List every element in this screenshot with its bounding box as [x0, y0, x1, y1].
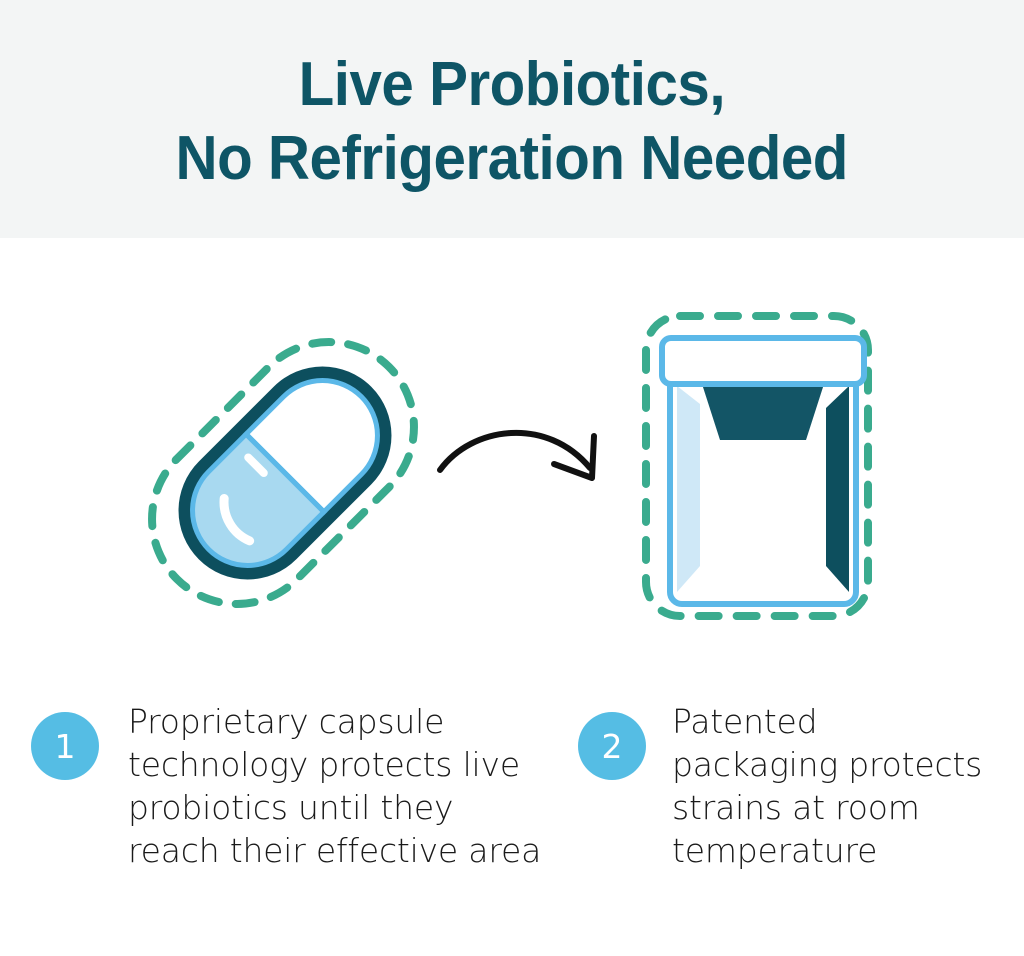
jar-left-shadow	[677, 386, 700, 592]
features-list: 1 Proprietary capsule technology protect…	[0, 700, 1024, 930]
arrow-illustration	[432, 408, 632, 503]
feature-text-1: Proprietary capsule technology protects …	[128, 700, 541, 872]
feature-badge-2: 2	[578, 712, 646, 780]
capsule-illustration	[120, 308, 460, 638]
arrow-curve	[440, 433, 590, 470]
feature-text-2: Patented packaging protects strains at r…	[672, 700, 982, 872]
page-title-line-2: No Refrigeration Needed	[176, 122, 848, 196]
feature-badge-1: 1	[31, 712, 99, 780]
feature-text-2-line-4: temperature	[672, 829, 982, 872]
jar-right-shadow	[826, 386, 849, 592]
feature-text-2-line-1: Patented	[672, 700, 982, 743]
jar-lid	[662, 338, 864, 384]
feature-text-1-line-1: Proprietary capsule	[128, 700, 541, 743]
feature-text-1-line-2: technology protects live	[128, 743, 541, 786]
header-band: Live Probiotics, No Refrigeration Needed	[0, 0, 1024, 238]
jar-illustration	[630, 300, 900, 640]
illustration-row	[0, 238, 1024, 688]
jar-top-shadow	[702, 384, 824, 440]
feature-text-2-line-3: strains at room	[672, 786, 982, 829]
feature-text-2-line-2: packaging protects	[672, 743, 982, 786]
feature-item-2: 2 Patented packaging protects strains at…	[578, 700, 1018, 872]
capsule-body	[150, 338, 420, 608]
feature-text-1-line-3: probiotics until they	[128, 786, 541, 829]
feature-text-1-line-4: reach their effective area	[128, 829, 541, 872]
page-title-line-1: Live Probiotics,	[299, 48, 725, 122]
feature-item-1: 1 Proprietary capsule technology protect…	[31, 700, 576, 872]
infographic-canvas: Live Probiotics, No Refrigeration Needed	[0, 0, 1024, 956]
